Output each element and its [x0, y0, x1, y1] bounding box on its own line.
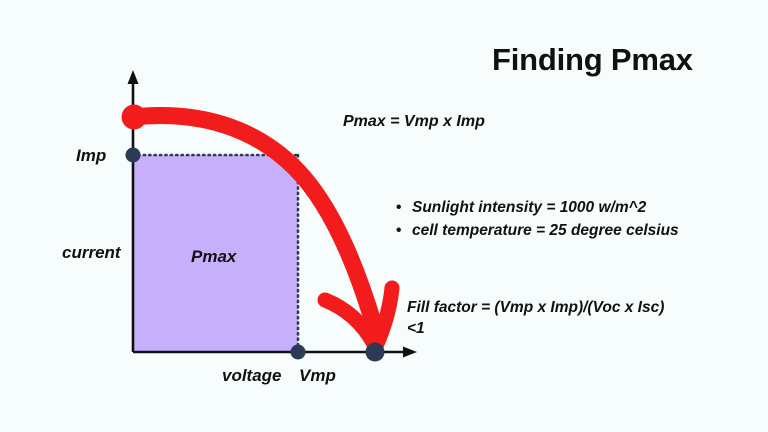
condition-text: Sunlight intensity = 1000 w/m^2 — [412, 199, 646, 216]
fill-factor-formula: Fill factor = (Vmp x Imp)/(Voc x Isc) <1 — [407, 297, 664, 339]
fill-factor-line-1: Fill factor = (Vmp x Imp)/(Voc x Isc) — [407, 297, 664, 318]
y-axis-label: current — [62, 243, 121, 263]
x-axis-label: voltage — [222, 366, 282, 386]
pmax-area-label: Pmax — [191, 247, 236, 267]
isc-red-marker — [122, 105, 147, 130]
imp-marker-dot — [126, 148, 141, 163]
imp-axis-label: Imp — [76, 146, 106, 166]
y-axis-arrow-icon — [128, 70, 139, 84]
list-item: • Sunlight intensity = 1000 w/m^2 — [396, 196, 679, 219]
slide-canvas: Finding Pmax Imp current voltage Vmp Pma… — [0, 0, 768, 432]
test-conditions-list: • Sunlight intensity = 1000 w/m^2 • cell… — [396, 196, 679, 242]
vmp-axis-label: Vmp — [299, 366, 336, 386]
condition-text: cell temperature = 25 degree celsius — [412, 222, 679, 239]
x-axis-arrow-icon — [403, 347, 417, 358]
list-item: • cell temperature = 25 degree celsius — [396, 219, 679, 242]
voc-marker-dot — [366, 343, 385, 362]
pmax-equation: Pmax = Vmp x Imp — [343, 113, 485, 131]
bullet-icon: • — [396, 219, 401, 242]
bullet-icon: • — [396, 196, 401, 219]
fill-factor-line-2: <1 — [407, 318, 664, 339]
vmp-marker-dot — [291, 345, 306, 360]
